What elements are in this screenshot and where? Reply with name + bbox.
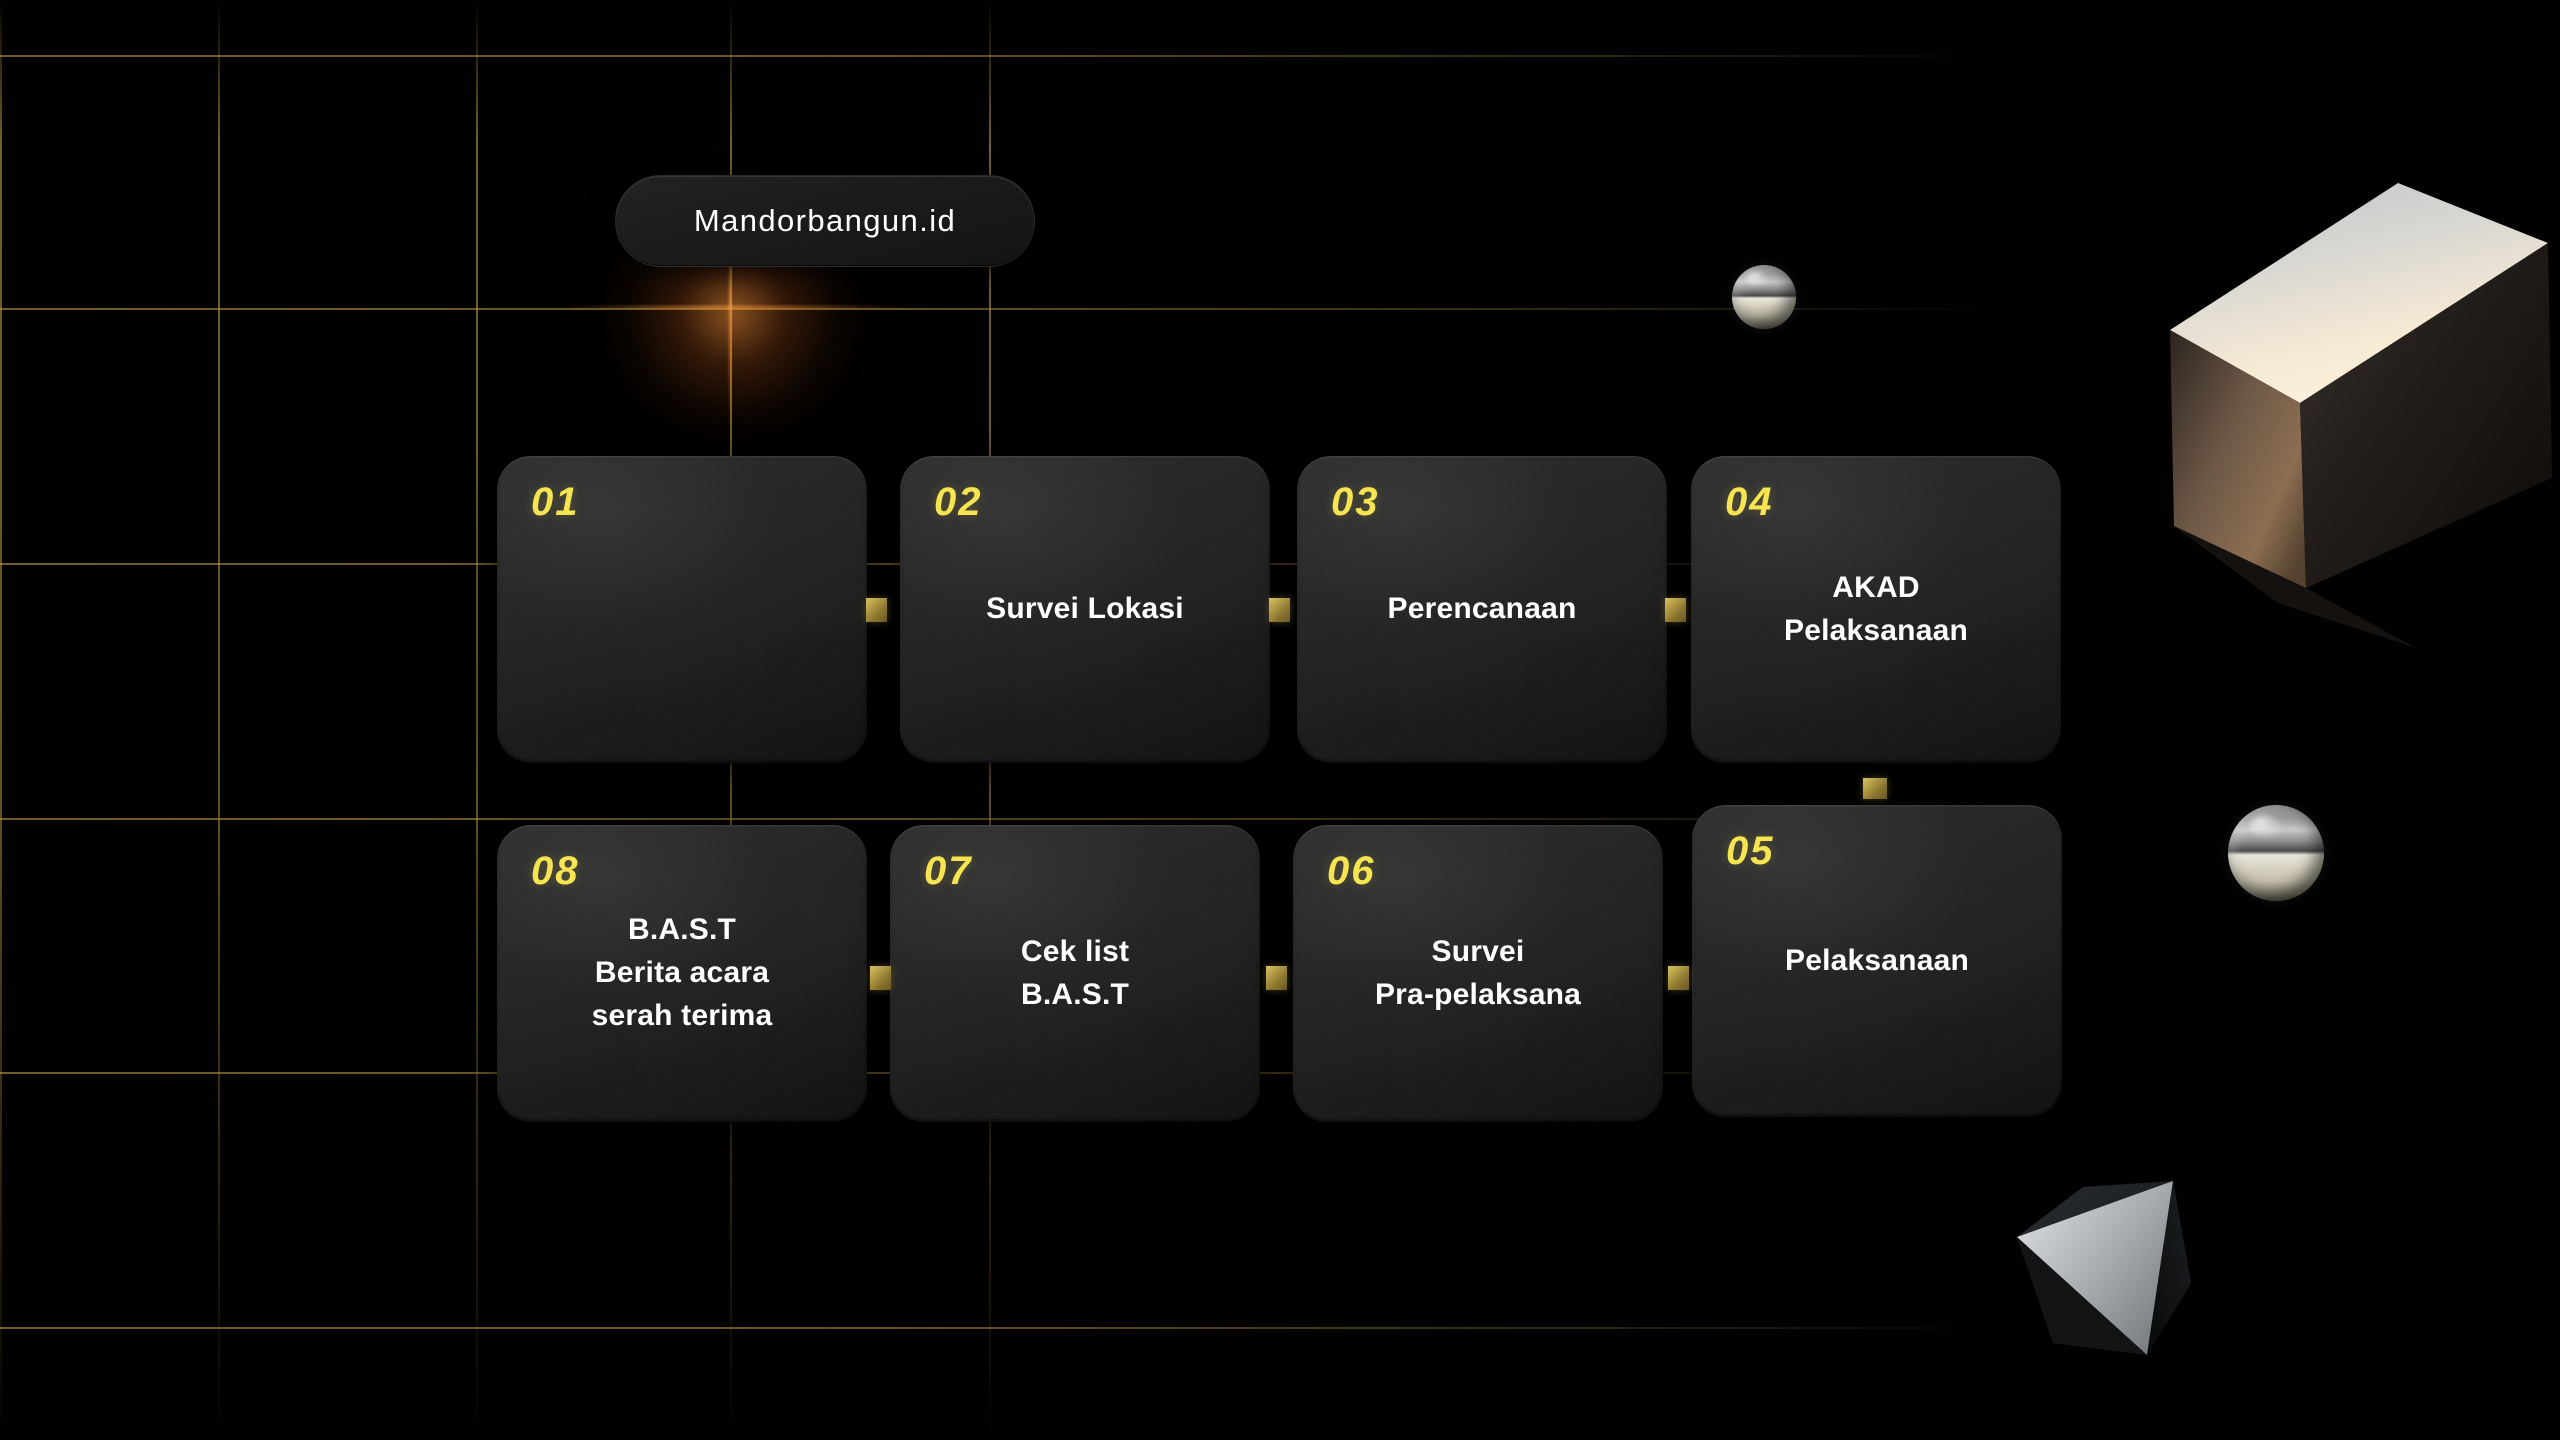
brand-badge[interactable]: Mandorbangun.id (615, 175, 1035, 267)
step-number: 01 (531, 480, 580, 525)
step-card-03[interactable]: 03 Perencanaan (1297, 456, 1667, 763)
step-label: Perencanaan (1297, 456, 1667, 763)
step-card-02[interactable]: 02 Survei Lokasi (900, 456, 1270, 763)
cube-3d-icon (2148, 148, 2560, 658)
step-label: Survei Lokasi (900, 456, 1270, 763)
step-card-04[interactable]: 04 AKAD Pelaksanaan (1691, 456, 2061, 763)
brand-name: Mandorbangun.id (694, 203, 956, 239)
connector-04-05 (1863, 778, 1887, 799)
chrome-sphere-small-icon (1732, 265, 1796, 329)
slide-canvas: Mandorbangun.id (0, 0, 2560, 1440)
step-label: Pelaksanaan (1692, 805, 2062, 1117)
connector-02-03 (1269, 598, 1290, 622)
grid-line-vertical (0, 0, 2, 1440)
connector-07-08 (870, 966, 891, 990)
chrome-sphere-large-icon (2228, 805, 2324, 901)
step-card-07[interactable]: 07 Cek list B.A.S.T (890, 825, 1260, 1122)
step-label: Cek list B.A.S.T (890, 825, 1260, 1122)
grid-line-vertical (218, 0, 220, 1440)
step-label: AKAD Pelaksanaan (1691, 456, 2061, 763)
connector-06-07 (1266, 966, 1287, 990)
step-card-05[interactable]: 05 Pelaksanaan (1692, 805, 2062, 1117)
grid-line-horizontal (0, 818, 2560, 820)
step-card-01[interactable]: 01 Konsultasi (497, 456, 867, 763)
grid-line-horizontal (0, 55, 2560, 57)
lens-flare-horizontal (560, 306, 910, 308)
step-label: B.A.S.T Berita acara serah terima (497, 825, 867, 1122)
step-card-08[interactable]: 08 B.A.S.T Berita acara serah terima (497, 825, 867, 1122)
step-label: Survei Pra-pelaksana (1293, 825, 1663, 1122)
faceted-polyhedron-icon (1995, 1165, 2205, 1360)
grid-line-horizontal (0, 1072, 2560, 1074)
connector-03-04 (1665, 598, 1686, 622)
grid-line-vertical (476, 0, 478, 1440)
step-card-06[interactable]: 06 Survei Pra-pelaksana (1293, 825, 1663, 1122)
connector-05-06 (1668, 966, 1689, 990)
connector-01-02 (866, 598, 887, 622)
